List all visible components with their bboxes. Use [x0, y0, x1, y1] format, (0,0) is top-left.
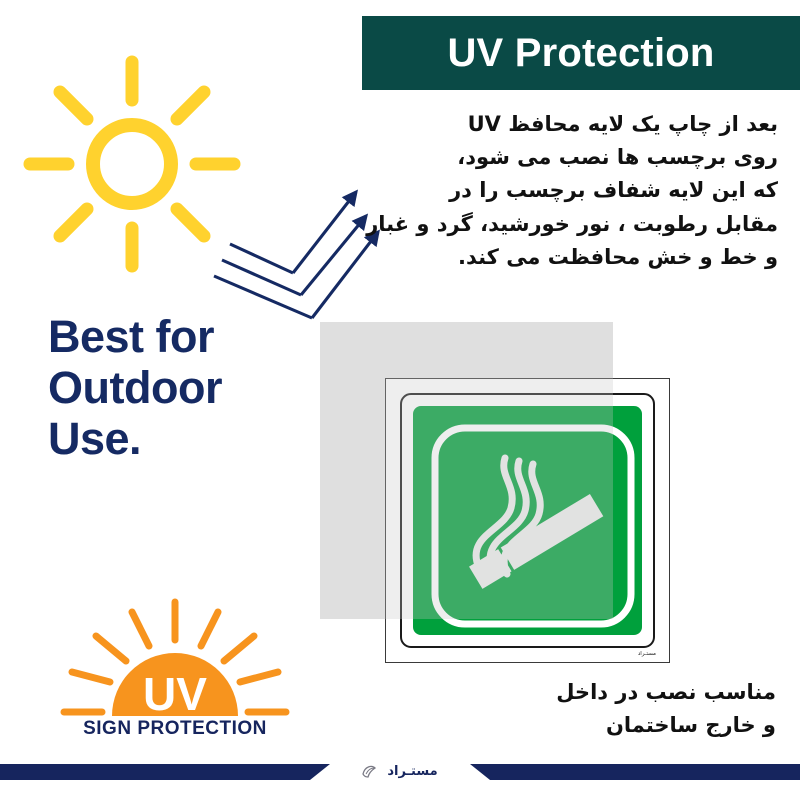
mostarad-logo-mark-icon	[359, 762, 379, 780]
footer: مستـراد	[0, 758, 800, 800]
sticker-scene: مستـراد	[300, 300, 720, 700]
sign-green-field	[413, 406, 642, 635]
poster-canvas: UV Protection	[0, 0, 800, 800]
footer-brand-text: مستـراد	[384, 764, 440, 779]
footer-brand: مستـراد	[0, 758, 800, 784]
page-title: UV Protection	[447, 33, 714, 73]
description-text: بعد از چاپ یک لایه محافظ UV روی برچسب ها…	[358, 108, 778, 274]
bottom-note-text: مناسب نصب در داخل و خارج ساختمان	[356, 676, 776, 741]
smoking-area-sign: مستـراد	[385, 378, 670, 663]
logo-uv-text: UV	[143, 668, 207, 720]
uv-sign-protection-logo: UV SIGN PROTECTION	[58, 598, 293, 753]
sign-watermark: مستـراد	[638, 651, 656, 657]
logo-tagline: SIGN PROTECTION	[83, 718, 267, 739]
sign-inner-frame	[400, 393, 655, 648]
cigarette-with-smoke-icon	[413, 406, 642, 635]
header-banner: UV Protection	[362, 16, 800, 90]
